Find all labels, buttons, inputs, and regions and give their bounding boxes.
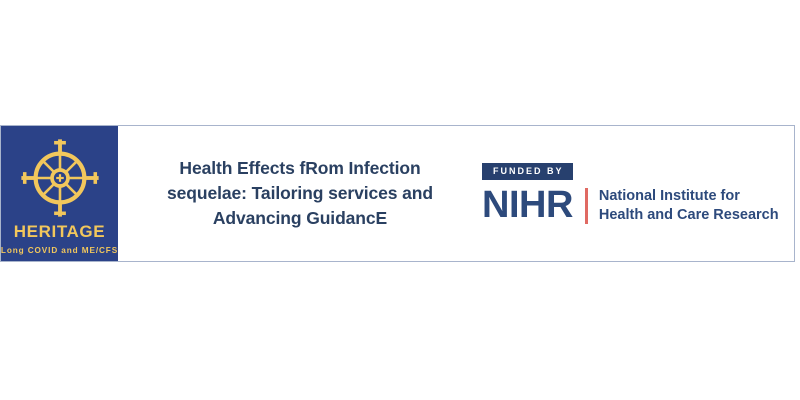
project-title-line-1: Health Effects fRom Infection [167, 156, 433, 181]
nihr-full-name-line-2: Health and Care Research [599, 206, 779, 224]
nihr-funder-block: FUNDED BY NIHR National Institute for He… [478, 126, 794, 261]
nihr-full-name-line-1: National Institute for [599, 187, 779, 205]
nihr-divider-rule [585, 188, 588, 224]
project-title-block: Health Effects fRom Infection sequelae: … [118, 126, 478, 261]
page-canvas: HERITAGE Long COVID and ME/CFS Health Ef… [0, 0, 800, 400]
heritage-tagline: Long COVID and ME/CFS [1, 247, 118, 255]
project-title: Health Effects fRom Infection sequelae: … [167, 156, 433, 231]
heritage-logo-block: HERITAGE Long COVID and ME/CFS [1, 126, 118, 261]
funded-by-badge: FUNDED BY [482, 163, 573, 180]
nihr-lockup: NIHR National Institute for Health and C… [482, 187, 779, 224]
project-title-line-2: sequelae: Tailoring services and [167, 181, 433, 206]
project-title-line-3: Advancing GuidancE [167, 206, 433, 231]
nihr-acronym: NIHR [482, 187, 573, 223]
project-banner: HERITAGE Long COVID and ME/CFS Health Ef… [0, 125, 795, 262]
heritage-wordmark: HERITAGE [14, 223, 105, 240]
compass-wheel-icon [17, 136, 103, 220]
nihr-full-name: National Institute for Health and Care R… [599, 187, 779, 224]
